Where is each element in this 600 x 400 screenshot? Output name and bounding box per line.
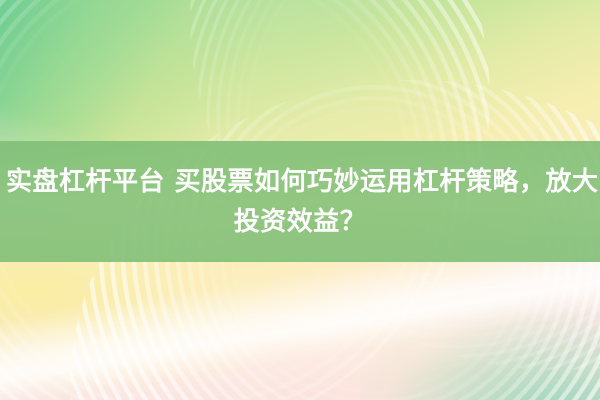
background-teal-corner-glow <box>360 296 600 400</box>
title-band: 实盘杠杆平台 买股票如何巧妙运用杠杆策略，放大 投资效益？ <box>0 141 600 262</box>
banner-title-line-1: 实盘杠杆平台 买股票如何巧妙运用杠杆策略，放大 <box>0 162 600 202</box>
hero-banner: 实盘杠杆平台 买股票如何巧妙运用杠杆策略，放大 投资效益？ <box>0 0 600 400</box>
banner-title-line-2: 投资效益？ <box>0 202 600 242</box>
